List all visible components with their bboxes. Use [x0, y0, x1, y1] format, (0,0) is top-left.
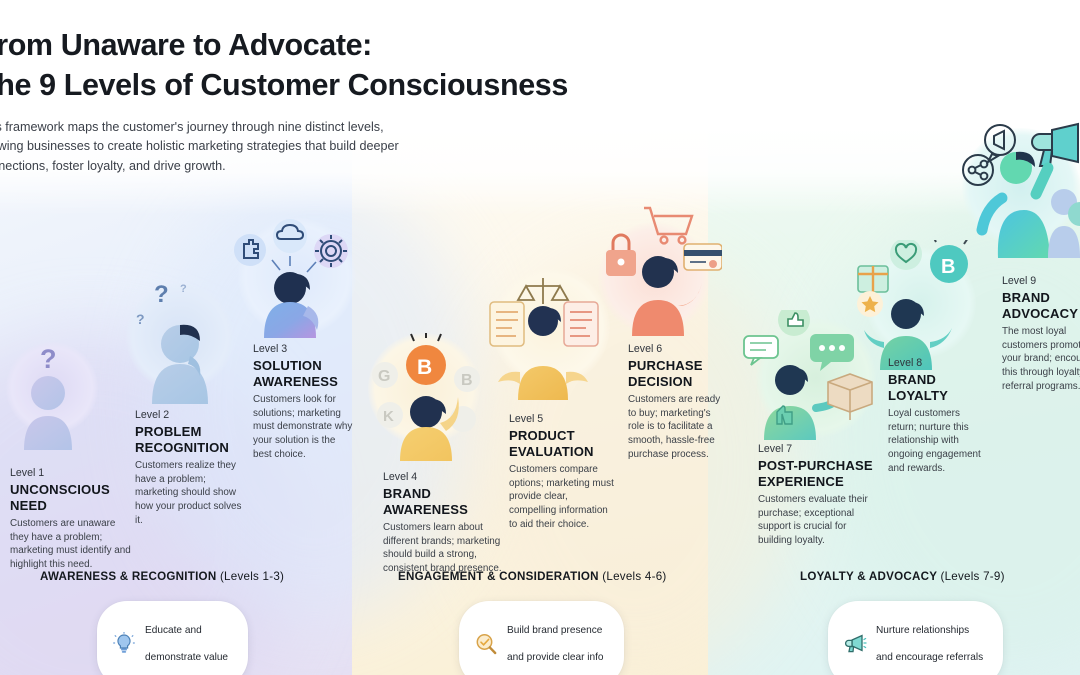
svg-text:?: ? [180, 283, 187, 295]
level-title-line-1: BRAND [1002, 290, 1080, 305]
level-number: Level 1 [10, 466, 135, 481]
level-description: Customers evaluate their purchase; excep… [758, 493, 878, 548]
section-level-range: (Levels 4-6) [602, 570, 666, 583]
level-description: Customers are unaware they have a proble… [10, 517, 135, 572]
level-title: SOLUTION AWARENESS [253, 358, 353, 388]
level-title: PRODUCT EVALUATION [509, 428, 615, 458]
level-number: Level 2 [135, 408, 247, 423]
level-description: The most loyal customers promote your br… [1002, 325, 1080, 394]
magnifier-icon [474, 632, 498, 656]
level-description: Customers learn about different brands; … [383, 521, 513, 576]
level-block-7: Level 7 POST-PURCHASE EXPERIENCE Custome… [758, 442, 878, 548]
section-level-range: (Levels 1-3) [220, 570, 284, 583]
level-title: BRAND ADVOCACY [1002, 290, 1080, 320]
section-label-awareness: AWARENESS & RECOGNITION (Levels 1-3) [40, 570, 284, 583]
illustration-level-5 [482, 272, 604, 400]
level-number: Level 3 [253, 342, 353, 357]
svg-text:B: B [461, 372, 473, 389]
level-title-line-2: LOYALTY [888, 388, 990, 403]
level-number: Level 8 [888, 356, 990, 371]
illustration-level-2: ? ? ? [128, 272, 232, 404]
level-block-2: Level 2 PROBLEM RECOGNITION Customers re… [135, 408, 247, 528]
level-number: Level 5 [509, 412, 615, 427]
level-description: Customers compare options; marketing mus… [509, 463, 615, 532]
level-title-line-2: ADVOCACY [1002, 306, 1080, 321]
pill-awareness[interactable]: Educate and demonstrate value [97, 601, 248, 675]
illustration-level-9 [958, 122, 1080, 258]
level-number: Level 4 [383, 470, 513, 485]
level-title: UNCONSCIOUS NEED [10, 482, 135, 512]
title-line-1: From Unaware to Advocate: [0, 26, 678, 66]
illustration-level-6 [596, 196, 722, 336]
level-title-line-2: RECOGNITION [135, 440, 247, 455]
level-title: POST-PURCHASE EXPERIENCE [758, 458, 878, 488]
section-label-loyalty: LOYALTY & ADVOCACY (Levels 7-9) [800, 570, 1005, 583]
page-title: From Unaware to Advocate: The 9 Levels o… [0, 26, 678, 105]
level-title-line-1: POST-PURCHASE [758, 458, 878, 473]
level-title-line-1: BRAND [888, 372, 990, 387]
pill-line-2: demonstrate value [145, 651, 228, 665]
pill-text: Educate and demonstrate value [145, 610, 228, 675]
level-block-6: Level 6 PURCHASE DECISION Customers are … [628, 342, 726, 462]
level-title: PURCHASE DECISION [628, 358, 726, 388]
pill-text: Nurture relationships and encourage refe… [876, 610, 983, 675]
section-label-engagement: ENGAGEMENT & CONSIDERATION (Levels 4-6) [398, 570, 667, 583]
level-description: Customers realize they have a problem; m… [135, 459, 247, 528]
pill-text: Build brand presence and provide clear i… [507, 610, 604, 675]
level-title-line-1: PURCHASE [628, 358, 726, 373]
illustration-level-8: B [856, 240, 978, 370]
pill-line-1: Nurture relationships [876, 624, 983, 638]
section-label-text: LOYALTY & ADVOCACY [800, 570, 937, 583]
pill-line-1: Educate and [145, 624, 228, 638]
level-description: Customers are ready to buy; marketing's … [628, 393, 726, 462]
level-title-line-1: SOLUTION [253, 358, 353, 373]
level-block-5: Level 5 PRODUCT EVALUATION Customers com… [509, 412, 615, 532]
illustration-level-4: G B K B [366, 333, 488, 461]
level-description: Loyal customers return; nurture this rel… [888, 407, 990, 476]
level-title-line-1: PROBLEM [135, 424, 247, 439]
illustration-level-1: ? [14, 338, 92, 450]
level-title-line-1: UNCONSCIOUS [10, 482, 135, 497]
level-description: Customers look for solutions; marketing … [253, 393, 353, 462]
level-title: BRAND LOYALTY [888, 372, 990, 402]
level-block-4: Level 4 BRAND AWARENESS Customers learn … [383, 470, 513, 576]
level-number: Level 7 [758, 442, 878, 457]
level-title: BRAND AWARENESS [383, 486, 513, 516]
title-line-2: The 9 Levels of Customer Consciousness [0, 66, 678, 106]
header: From Unaware to Advocate: The 9 Levels o… [0, 26, 678, 176]
level-title-line-2: AWARENESS [253, 374, 353, 389]
svg-text:?: ? [154, 281, 169, 308]
svg-text:B: B [417, 356, 432, 379]
illustration-level-3 [228, 218, 352, 338]
level-block-3: Level 3 SOLUTION AWARENESS Customers loo… [253, 342, 353, 462]
page-subtitle: This framework maps the customer's journ… [0, 118, 418, 175]
svg-text:G: G [378, 368, 390, 385]
level-number: Level 9 [1002, 274, 1080, 289]
pill-line-2: and encourage referrals [876, 651, 983, 665]
level-block-8: Level 8 BRAND LOYALTY Loyal customers re… [888, 356, 990, 476]
svg-text:?: ? [40, 344, 57, 374]
section-label-text: ENGAGEMENT & CONSIDERATION [398, 570, 599, 583]
pill-line-1: Build brand presence [507, 624, 604, 638]
level-title-line-2: DECISION [628, 374, 726, 389]
level-number: Level 6 [628, 342, 726, 357]
level-title: PROBLEM RECOGNITION [135, 424, 247, 454]
level-title-line-2: EXPERIENCE [758, 474, 878, 489]
infographic-canvas: From Unaware to Advocate: The 9 Levels o… [0, 0, 1080, 675]
level-block-1: Level 1 UNCONSCIOUS NEED Customers are u… [10, 466, 135, 572]
lightbulb-icon [112, 632, 136, 656]
pill-loyalty[interactable]: Nurture relationships and encourage refe… [828, 601, 1003, 675]
level-title-line-2: EVALUATION [509, 444, 615, 459]
pill-engagement[interactable]: Build brand presence and provide clear i… [459, 601, 624, 675]
level-title-line-1: BRAND [383, 486, 513, 501]
level-title-line-2: AWARENESS [383, 502, 513, 517]
pill-line-2: and provide clear info [507, 651, 604, 665]
svg-text:B: B [941, 256, 955, 278]
section-label-text: AWARENESS & RECOGNITION [40, 570, 216, 583]
level-block-9: Level 9 BRAND ADVOCACY The most loyal cu… [1002, 274, 1080, 394]
level-title-line-2: NEED [10, 498, 135, 513]
megaphone-icon [843, 632, 867, 656]
level-title-line-1: PRODUCT [509, 428, 615, 443]
svg-text:K: K [383, 408, 394, 425]
svg-text:?: ? [136, 311, 145, 327]
section-level-range: (Levels 7-9) [940, 570, 1004, 583]
